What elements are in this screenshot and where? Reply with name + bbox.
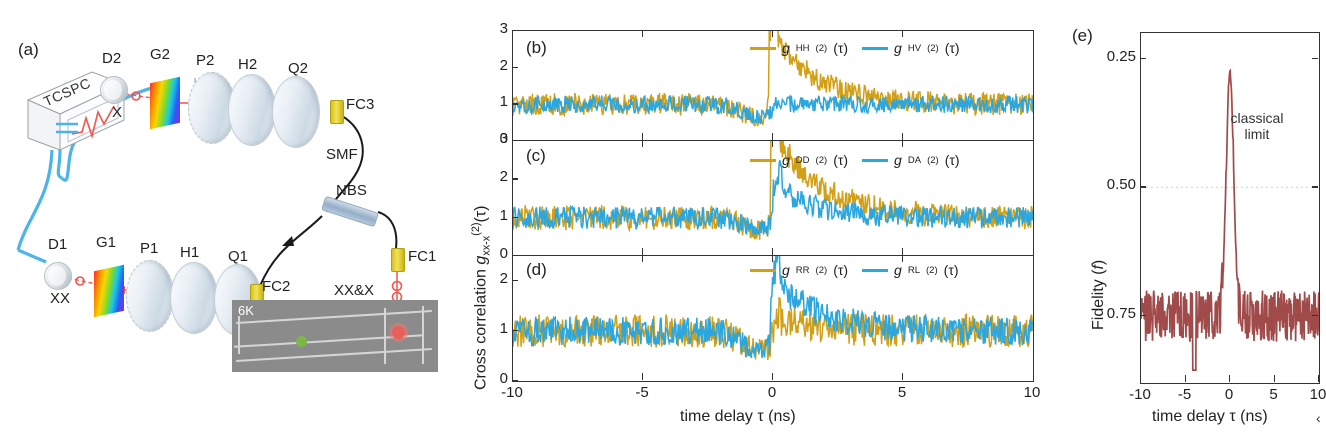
xtick-mark (642, 30, 643, 37)
ytick-e-0p50: 0.50 (1090, 176, 1136, 193)
xaxis-title-bcd: time delay τ (ns) (680, 408, 796, 426)
label-q1: Q1 (228, 248, 248, 265)
ytick-e-0p75: 0.75 (1090, 305, 1136, 322)
ytick-mark (512, 30, 518, 31)
legend-d-sub-rr: RR (796, 265, 810, 276)
label-p1: P1 (140, 240, 158, 257)
ytick-d-2: 2 (488, 270, 508, 287)
xtick-bcd-10: 10 (1016, 384, 1048, 401)
detector-1-icon (44, 262, 72, 290)
legend-c-item-dd: gDD(2)(τ) (750, 152, 848, 168)
legend-d-sub-rl: RL (908, 265, 920, 276)
xtick-mark (772, 255, 773, 262)
legend-swatch-rl (862, 269, 888, 272)
legend-swatch-hh (750, 47, 776, 50)
legend-b-item-hv: gHV(2)(τ) (862, 40, 960, 56)
label-fc1: FC1 (408, 248, 436, 265)
xtick-mark (902, 255, 903, 262)
ytick-b-2: 2 (488, 57, 508, 74)
yaxis-title-fidelity-post: ) (1090, 260, 1107, 265)
ytick-b-1: 1 (488, 93, 508, 110)
xtick-mark (1185, 375, 1186, 382)
xtick-mark (1274, 375, 1275, 382)
xtick-mark (642, 373, 643, 380)
xtick-bcd-neg10: -10 (496, 384, 528, 401)
ytick-c-2: 2 (488, 168, 508, 185)
plot-e (1140, 32, 1320, 384)
polarizer-1-icon (126, 260, 174, 332)
ytick-e-0p25: 0.25 (1090, 48, 1136, 65)
xtick-mark (902, 133, 903, 140)
plot-e-trace (1141, 33, 1319, 383)
xtick-mark (1229, 375, 1230, 382)
panel-c-tag: (c) (526, 146, 546, 166)
legend-swatch-rr (750, 269, 776, 272)
xtick-mark (902, 140, 903, 147)
label-g1: G1 (96, 234, 116, 251)
xtick-mark (1140, 375, 1141, 382)
xtick-e-5: 5 (1258, 386, 1290, 403)
legend-d: gRR(2)(τ) gRL(2)(τ) (750, 262, 959, 278)
xtick-bcd-0: 0 (756, 384, 788, 401)
panel-e-fidelity-chart: (e) Fidelity (f) classical limit 0.250.5… (1070, 0, 1326, 440)
ytick-mark (512, 380, 518, 381)
legend-d-item-rr: gRR(2)(τ) (750, 262, 848, 278)
label-xx-photon: XX (50, 290, 70, 307)
legend-b-item-hh: gHH(2)(τ) (750, 40, 848, 56)
grating-2-icon (150, 77, 180, 129)
xtick-mark (642, 248, 643, 255)
xtick-mark (772, 30, 773, 37)
fiber-coupler-3-icon (330, 100, 344, 124)
xtick-mark (902, 248, 903, 255)
legend-swatch-da (862, 159, 888, 162)
legend-c-sub-da: DA (908, 155, 921, 166)
halfwave-2-icon (228, 74, 276, 146)
label-x-photon: X (112, 104, 122, 121)
legend-c-item-da: gDA(2)(τ) (862, 152, 960, 168)
xtick-e-neg5: -5 (1169, 386, 1201, 403)
ytick-mark (1140, 186, 1146, 187)
fiber-coupler-1-icon (391, 248, 405, 272)
xtick-mark (642, 255, 643, 262)
ytick-mark (1312, 315, 1318, 316)
sem-micrograph: 6K (232, 300, 438, 372)
detector-2-icon (100, 76, 128, 104)
ytick-mark (512, 103, 518, 104)
cryostat-temperature-label: 6K (238, 303, 254, 318)
ytick-mark (512, 140, 518, 141)
classical-limit-annotation: classical limit (1222, 110, 1292, 142)
legend-swatch-hv (862, 47, 888, 50)
label-nbs: NBS (336, 182, 367, 199)
ytick-mark (512, 67, 518, 68)
quarterwave-2-icon (272, 76, 320, 148)
ytick-d-1: 1 (488, 320, 508, 337)
label-d1: D1 (48, 236, 67, 253)
figure-root: (a) (0, 0, 1326, 440)
panel-b-tag: (b) (526, 38, 547, 58)
ytick-mark (512, 255, 518, 256)
ytick-mark (512, 178, 518, 179)
xtick-mark (772, 133, 773, 140)
legend-b-sub-hh: HH (796, 43, 810, 54)
ytick-mark (1140, 58, 1146, 59)
xtick-bcd-neg5: -5 (626, 384, 658, 401)
xtick-e-10: 10 (1302, 386, 1326, 403)
ytick-mark (512, 330, 518, 331)
ytick-mark (1140, 315, 1146, 316)
legend-c: gDD(2)(τ) gDA(2)(τ) (750, 152, 960, 168)
label-fc3: FC3 (346, 96, 374, 113)
ytick-c-0: 0 (488, 245, 508, 262)
ytick-mark (512, 280, 518, 281)
label-h2: H2 (238, 56, 257, 73)
ytick-c-1: 1 (488, 207, 508, 224)
ytick-mark (1312, 58, 1318, 59)
ytick-mark (1312, 186, 1318, 187)
ytick-b-3: 3 (488, 20, 508, 37)
legend-b: gHH(2)(τ) gHV(2)(τ) (750, 40, 960, 56)
label-smf: SMF (326, 146, 358, 163)
panel-e-tag: (e) (1072, 26, 1093, 46)
truncated-glyph: ‹ (1316, 410, 1321, 426)
label-xx-and-x: XX&X (334, 282, 374, 299)
legend-c-sub-dd: DD (796, 155, 810, 166)
grating-1-icon (94, 265, 124, 317)
yaxis-title-text: Cross correlation (472, 265, 489, 390)
label-p2: P2 (196, 52, 214, 69)
legend-swatch-dd (750, 159, 776, 162)
xtick-mark (1318, 375, 1319, 382)
xtick-e-0: 0 (1213, 386, 1245, 403)
xaxis-title-e: time delay τ (ns) (1152, 408, 1268, 426)
label-h1: H1 (180, 244, 199, 261)
xtick-mark (902, 373, 903, 380)
ytick-mark (512, 217, 518, 218)
xtick-e-neg10: -10 (1124, 386, 1156, 403)
legend-b-sub-hv: HV (908, 43, 921, 54)
halfwave-1-icon (170, 262, 218, 334)
yaxis-title-fidelity-sym: f (1090, 265, 1107, 269)
yaxis-title-cross-correlation: Cross correlation gxx-x(2)(τ) (470, 206, 493, 391)
panel-d-tag: (d) (526, 260, 547, 280)
label-g2: G2 (150, 46, 170, 63)
label-fc2: FC2 (262, 278, 290, 295)
xtick-mark (772, 373, 773, 380)
panel-a-setup-schematic: (a) (0, 0, 450, 440)
xtick-bcd-5: 5 (886, 384, 918, 401)
xtick-mark (642, 133, 643, 140)
label-q2: Q2 (288, 60, 308, 77)
xtick-mark (772, 140, 773, 147)
xtick-mark (772, 248, 773, 255)
label-d2: D2 (102, 50, 121, 67)
ytick-c-3: 3 (488, 130, 508, 147)
panel-bcd-correlation-charts: Cross correlation gxx-x(2)(τ) (b) gHH(2)… (450, 0, 1070, 440)
legend-d-item-rl: gRL(2)(τ) (862, 262, 958, 278)
xtick-mark (902, 30, 903, 37)
xtick-mark (642, 140, 643, 147)
